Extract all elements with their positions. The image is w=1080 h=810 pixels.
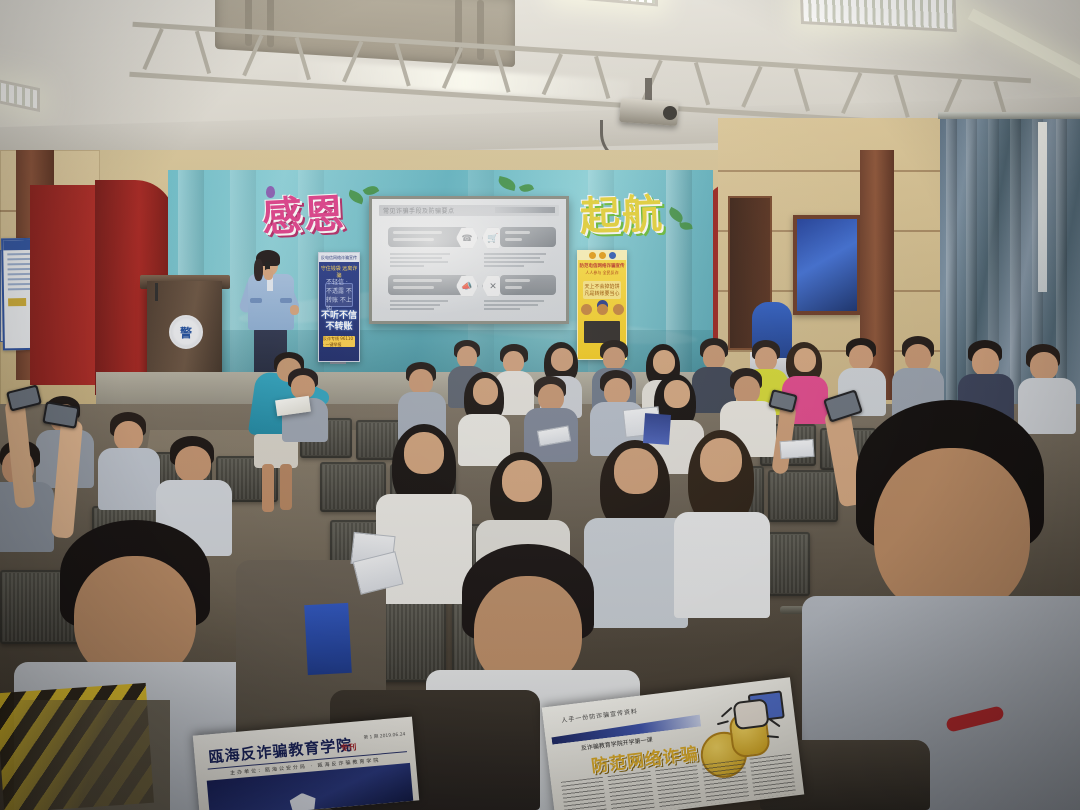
banner-blue-headline-1: 不听不信 [319, 311, 359, 322]
seat-pocket-leaflet [304, 603, 352, 675]
projector-lens-icon [663, 106, 677, 120]
shield-icon [599, 252, 606, 259]
wall-word-setsail: 起航 [579, 195, 664, 238]
banner-yellow-band: 天上不会掉馅饼 凡是转账要当心 [583, 281, 621, 299]
police-emblem-icon: 警 [169, 315, 203, 349]
rollup-banner-blue: 反电信网络诈骗宣传 守住钱袋 远离诈骗 不轻信 · 不透露 不转账 不上钩 不听… [318, 252, 360, 362]
stage-flat-left-outer [30, 185, 100, 385]
newspaper-issue-meta: 第 1 期 2019.06.24 [363, 731, 405, 742]
banner-yellow-subtitle: 人人参与 全民反诈 [578, 270, 626, 276]
photo-scene: 感恩 起航 常见诈骗手段及防骗要点 ☎ 🛒 [0, 0, 1080, 810]
speaker-hand [290, 305, 299, 315]
speaker-hair-side [254, 259, 263, 281]
framed-artwork [793, 215, 861, 315]
hazard-tape-shadow [0, 700, 170, 810]
police-shield-icon [289, 792, 317, 810]
ceiling-panel-light [799, 0, 957, 32]
newspaper-kicker: 人手一份防诈骗宣传资料 [561, 706, 639, 724]
seat[interactable] [768, 470, 838, 522]
seat-pocket-leaflet [643, 413, 671, 445]
handout-paper [779, 439, 814, 459]
banner-blue-header: 反电信网络诈骗宣传 [319, 253, 359, 262]
curtain-rod [938, 112, 1080, 119]
cartoon-police-figure-icon [597, 304, 608, 318]
ceiling-panel-light [556, 0, 658, 6]
ceiling-panel-light [0, 76, 40, 112]
banner-yellow-icons [578, 251, 626, 260]
framed-artwork-canvas [797, 219, 857, 311]
leg [280, 464, 292, 510]
projection-screen: 常见诈骗手段及防骗要点 ☎ 🛒 📣 [372, 199, 566, 321]
police-badge-icon [609, 252, 616, 259]
banner-blue-headline-2: 不转账 [319, 322, 359, 333]
shield-icon [589, 252, 596, 259]
screen-light-wash [372, 199, 566, 321]
speaker-hand-with-mic [264, 269, 273, 280]
banner-yellow-title: 防范电信网络诈骗宣传 [578, 263, 626, 269]
wall-word-gratitude: 感恩 [261, 194, 347, 238]
newspaper-edition-tag: 专刊 [340, 742, 357, 754]
projection-screen-frame: 常见诈骗手段及防骗要点 ☎ 🛒 📣 [369, 196, 569, 324]
leg [262, 464, 274, 512]
podium-microphone-icon [155, 283, 158, 301]
cartoon-figure-icon [613, 304, 624, 318]
podium-emblem-text: 警 [180, 324, 192, 341]
window-curtains[interactable] [940, 118, 1080, 418]
banner-blue-box: 不轻信 · 不透露 不转账 不上钩 [325, 283, 353, 307]
window-daylight-gap [1038, 122, 1047, 292]
banner-blue-footer: 反诈专线 96110 · 一键举报 [323, 336, 355, 347]
banner-yellow-figures [578, 304, 626, 318]
cartoon-figure-icon [581, 304, 592, 318]
